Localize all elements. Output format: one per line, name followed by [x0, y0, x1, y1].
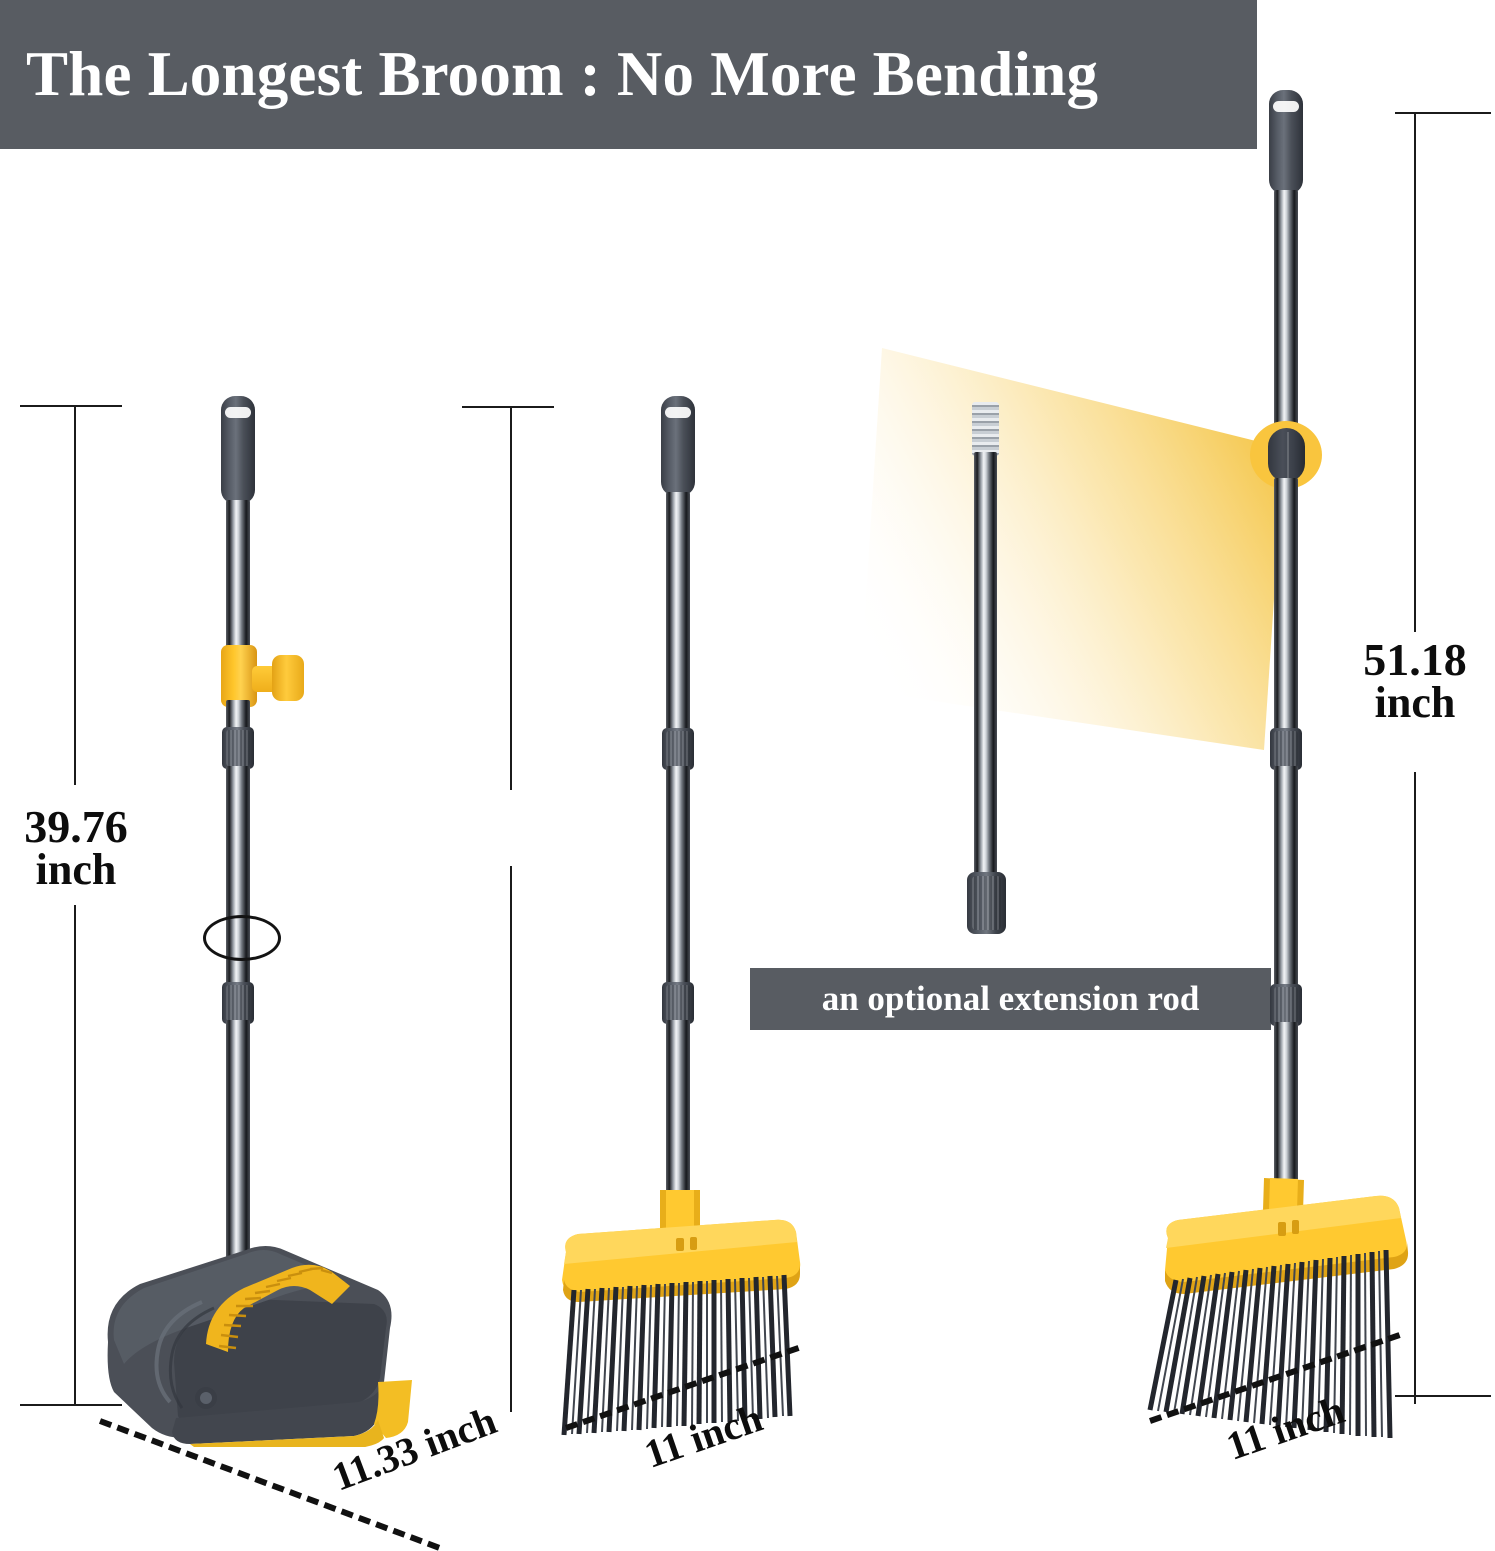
ribbed-end-cap [967, 872, 1006, 934]
title-text: The Longest Broom : No More Bending [26, 38, 1098, 111]
dimension-tick-top-left [20, 405, 122, 407]
telescoping-pole-2-upper [666, 492, 690, 732]
dimension-unit-51: inch [1344, 682, 1486, 724]
title-banner: The Longest Broom : No More Bending [0, 0, 1257, 149]
dimension-tick-top-right [1395, 112, 1491, 114]
telescoping-pole-2-mid [666, 766, 690, 984]
handle-grip-1 [221, 396, 255, 504]
dimension-label-39: 39.76 inch [6, 805, 146, 891]
extension-rod-caption-text: an optional extension rod [822, 979, 1200, 1019]
telescoping-pole-4-lower [1274, 1022, 1298, 1194]
threaded-tip [972, 402, 999, 456]
handle-grip-4 [1269, 90, 1303, 194]
dimension-unit-39: inch [6, 849, 146, 891]
locking-collar-2a [662, 728, 694, 770]
handle-grip-2 [661, 396, 695, 496]
telescoping-pole-1-bottom [226, 1020, 250, 1260]
extension-rod-caption-banner: an optional extension rod [750, 968, 1271, 1030]
dimension-label-51: 51.18 inch [1344, 638, 1486, 724]
rotation-indicator-ellipse [203, 915, 281, 961]
locking-collar-4b [1270, 984, 1302, 1026]
infographic-canvas: The Longest Broom : No More Bending 39.7… [0, 0, 1495, 1500]
locking-collar-4a [1270, 728, 1302, 770]
connector-hinge [1268, 428, 1305, 482]
dimension-line-middle-upper [510, 406, 512, 790]
telescoping-pole-1-upper [226, 500, 250, 660]
dimension-line-39-lower [74, 905, 76, 1405]
yellow-hook-clip-knob [272, 655, 304, 701]
telescoping-pole-4-upper [1274, 478, 1298, 732]
dimension-line-39-upper [74, 405, 76, 785]
locking-collar-1a [222, 727, 254, 769]
telescoping-pole-4-top [1274, 190, 1298, 438]
telescoping-pole-1-mid [226, 700, 250, 730]
locking-collar-1b [222, 982, 254, 1024]
broom-head-2 [548, 1190, 838, 1450]
telescoping-pole-2-lower [666, 1020, 690, 1208]
dustpan [78, 1232, 458, 1447]
dimension-line-middle-lower [510, 866, 512, 1412]
dimension-tick-top-middle [462, 406, 554, 408]
spotlight-glow [860, 330, 1300, 1030]
chrome-shaft-extension [974, 452, 997, 882]
locking-collar-2b [662, 982, 694, 1024]
telescoping-pole-4-mid [1274, 766, 1298, 988]
dimension-line-51-upper [1414, 112, 1416, 632]
